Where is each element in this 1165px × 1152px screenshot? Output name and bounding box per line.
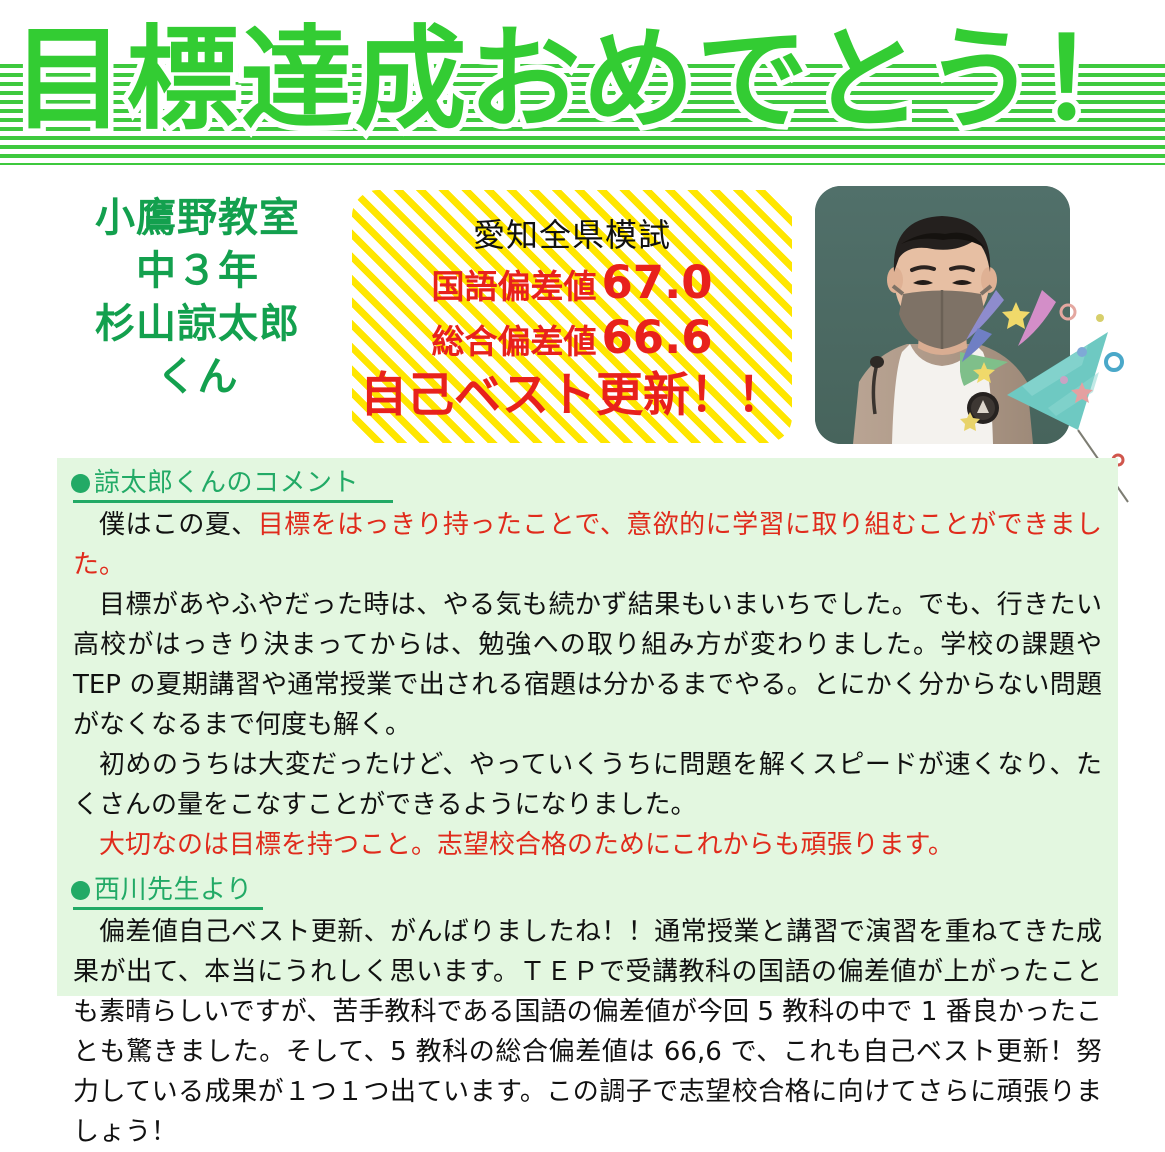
student-classroom: 小鷹野教室 xyxy=(55,192,340,245)
paragraph: 僕はこの夏、目標をはっきり持ったことで、意欲的に学習に取り組むことができました。 xyxy=(73,505,1102,585)
text-run: 大切なのは目標を持つこと。志望校合格のためにこれからも頑張ります。 xyxy=(99,830,954,860)
student-comment-heading-text: 諒太郎くんのコメント xyxy=(94,468,359,498)
paragraph: 初めのうちは大変だったけど、やっていくうちに問題を解くスピードが速くなり、たくさ… xyxy=(73,745,1102,825)
student-grade: 中３年 xyxy=(55,245,340,298)
paragraph: 大切なのは目標を持つこと。志望校合格のためにこれからも頑張ります。 xyxy=(73,825,1102,865)
student-photo-image xyxy=(815,186,1070,444)
paragraph: 偏差値自己ベスト更新、がんばりましたね！！通常授業と講習で演習を重ねてきた成果が… xyxy=(73,912,1102,1152)
student-comment-body: 僕はこの夏、目標をはっきり持ったことで、意欲的に学習に取り組むことができました。… xyxy=(57,503,1118,865)
student-name: 杉山諒太郎 xyxy=(55,298,340,351)
score-value-total: 66.6 xyxy=(601,311,712,364)
header-banner: 目標達成おめでとう！ xyxy=(0,0,1165,180)
score-row-japanese: 国語偏差値67.0 xyxy=(352,261,792,309)
text-run: 目標があやふやだった時は、やる気も続かず結果もいまいちでした。でも、行きたい高校… xyxy=(73,590,1102,740)
teacher-comment-heading: 西川先生より xyxy=(57,865,1118,906)
score-value-japanese: 67.0 xyxy=(601,256,712,309)
score-label-total: 総合偏差値 xyxy=(431,322,596,361)
student-photo xyxy=(815,186,1070,444)
bullet-icon xyxy=(71,881,90,900)
page-title: 目標達成おめでとう！ xyxy=(0,8,1165,153)
text-run: 僕はこの夏、 xyxy=(99,510,258,540)
score-card-content: 愛知全県模試 国語偏差値67.0 総合偏差値66.6 自己ベスト更新！！ xyxy=(352,190,792,443)
comment-panel: 諒太郎くんのコメント 僕はこの夏、目標をはっきり持ったことで、意欲的に学習に取り… xyxy=(57,458,1118,996)
student-identity-block: 小鷹野教室 中３年 杉山諒太郎 くん xyxy=(55,192,340,404)
score-label-japanese: 国語偏差値 xyxy=(431,267,596,306)
teacher-comment-heading-text: 西川先生より xyxy=(94,875,252,905)
personal-best-badge: 自己ベスト更新！！ xyxy=(352,369,792,423)
text-run: 偏差値自己ベスト更新、がんばりましたね！！通常授業と講習で演習を重ねてきた成果が… xyxy=(73,917,1102,1147)
score-row-total: 総合偏差値66.6 xyxy=(352,316,792,364)
bullet-icon xyxy=(71,474,90,493)
text-run: 初めのうちは大変だったけど、やっていくうちに問題を解くスピードが速くなり、たくさ… xyxy=(73,750,1102,820)
student-honorific: くん xyxy=(55,351,340,404)
paragraph: 目標があやふやだった時は、やる気も続かず結果もいまいちでした。でも、行きたい高校… xyxy=(73,585,1102,745)
student-comment-heading: 諒太郎くんのコメント xyxy=(57,458,1118,499)
exam-name: 愛知全県模試 xyxy=(352,216,792,254)
teacher-comment-body: 偏差値自己ベスト更新、がんばりましたね！！通常授業と講習で演習を重ねてきた成果が… xyxy=(57,910,1118,1152)
score-card: 愛知全県模試 国語偏差値67.0 総合偏差値66.6 自己ベスト更新！！ xyxy=(352,190,792,443)
